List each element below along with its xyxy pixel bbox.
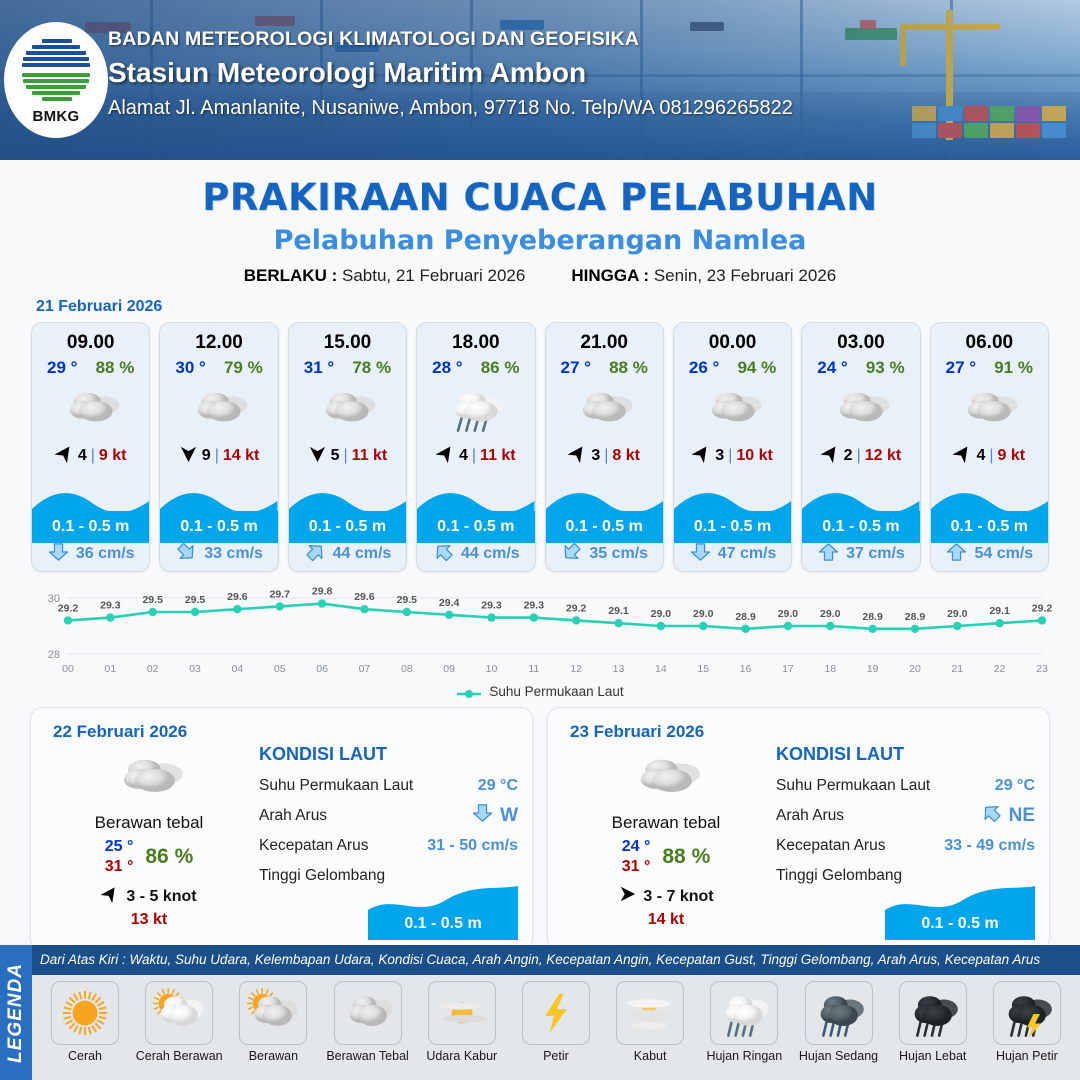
hourly-current: 54 cm/s [931,541,1048,567]
wind-direction-arrow-icon [821,444,840,468]
svg-text:13: 13 [613,663,625,675]
berawan-tebal-icon [546,381,663,437]
hourly-card: 12.00 30 ° 79 % 9 | 14 kt [159,322,278,572]
daily-date: 23 Februari 2026 [570,722,704,742]
wind-direction-arrow-icon [692,444,711,468]
separator: | [215,447,219,465]
hourly-humidity: 91 % [994,358,1033,378]
hourly-temperature: 31 ° [304,358,334,378]
svg-text:00: 00 [62,663,74,675]
hourly-current: 47 cm/s [674,541,791,567]
hingga-label: HINGGA : [571,266,649,285]
validity-row: BERLAKU : Sabtu, 21 Februari 2026 HINGGA… [0,266,1080,286]
bmkg-logo-text: BMKG [32,108,79,125]
hourly-temperature: 29 ° [47,358,77,378]
daily-sea-title: KONDISI LAUT [259,744,518,765]
separator: | [857,447,861,465]
hourly-gust: 9 kt [99,447,127,465]
daily-wind: 3 - 7 knot [566,885,766,908]
hourly-wave-band: 0.1 - 0.5 m [931,511,1048,543]
hourly-wave-band: 0.1 - 0.5 m [674,511,791,543]
hourly-current: 33 cm/s [160,541,277,567]
hourly-wind: 3 | 10 kt [674,443,791,469]
haze-icon [428,981,496,1045]
wind-direction-arrow-icon [101,885,119,908]
hourly-card: 00.00 26 ° 94 % 3 | 10 kt [673,322,792,572]
hourly-wind-speed: 3 [715,447,724,465]
daily-sea-conditions: KONDISI LAUT Suhu Permukaan Laut 29 °C A… [259,744,518,891]
daily-temp-max: 31 ° [105,857,134,877]
daily-wave-badge: 0.1 - 0.5 m [368,884,518,940]
daily-temps: 25 ° 31 ° 86 % [49,837,249,877]
hourly-wind-speed: 3 [591,447,600,465]
current-direction-arrow-icon [817,543,840,566]
hourly-temp-hum: 31 ° 78 % [289,354,406,378]
hourly-wind-speed: 4 [78,447,87,465]
hourly-wind: 3 | 8 kt [546,443,663,469]
hourly-wave-band: 0.1 - 0.5 m [289,511,406,543]
daily-temp-max: 31 ° [622,857,651,877]
hourly-wave-height: 0.1 - 0.5 m [180,518,257,536]
svg-text:0.1 - 0.5 m: 0.1 - 0.5 m [404,915,481,932]
wind-direction-arrow-icon [436,444,455,468]
svg-text:28.9: 28.9 [735,611,756,623]
svg-text:29.3: 29.3 [524,600,545,612]
hourly-card: 09.00 29 ° 88 % 4 | 9 kt [31,322,150,572]
legend-item-label: Berawan [249,1049,298,1063]
hourly-wave-area: 0.1 - 0.5 m 44 cm/s [289,485,406,571]
legend-side-tab: LEGENDA [0,945,32,1080]
bmkg-emblem-icon [20,35,92,107]
daily-sea-row: Kecepatan Arus 31 - 50 cm/s [259,831,518,861]
hourly-wind: 9 | 14 kt [160,443,277,469]
hourly-temperature: 26 ° [689,358,719,378]
svg-text:07: 07 [359,663,371,675]
hourly-current-speed: 44 cm/s [333,545,392,563]
daily-panel: 23 Februari 2026 Berawan tebal 24 ° 31 °… [547,707,1050,951]
svg-text:14: 14 [655,663,667,675]
svg-text:03: 03 [189,663,201,675]
svg-text:23: 23 [1036,663,1048,675]
hourly-time: 12.00 [160,323,277,354]
daily-sea-key: Tinggi Gelombang [776,867,902,885]
wind-direction-arrow-icon [308,444,327,468]
hourly-wind-speed: 4 [459,447,468,465]
berawan-tebal-icon [674,381,791,437]
separator: | [989,447,993,465]
svg-text:28.9: 28.9 [862,611,883,623]
svg-text:02: 02 [147,663,159,675]
svg-text:29.1: 29.1 [989,605,1010,617]
daily-temp-range: 25 ° 31 ° [105,837,134,877]
current-direction-arrow-icon [980,804,1003,828]
svg-text:29.6: 29.6 [227,591,248,603]
hujan-ringan-icon [417,381,534,437]
hourly-time: 15.00 [289,323,406,354]
daily-current-direction: NE [980,804,1035,828]
daily-sea-value: 29 °C [478,777,518,795]
daily-condition: Berawan tebal [49,813,249,833]
current-direction-arrow-icon [689,543,712,566]
hourly-temp-hum: 30 ° 79 % [160,354,277,378]
station-name: Stasiun Meteorologi Maritim Ambon [108,57,793,89]
berawan-tebal-icon [49,752,249,809]
svg-text:08: 08 [401,663,413,675]
berawan-tebal-icon [32,381,149,437]
legend-item: Hujan Sedang [794,981,884,1063]
hourly-wind-speed: 9 [202,447,211,465]
hourly-card: 18.00 28 ° 86 % 4 | 11 kt [416,322,535,572]
current-direction-arrow-icon [175,543,198,566]
svg-text:0.1 - 0.5 m: 0.1 - 0.5 m [921,915,998,932]
hourly-temp-hum: 24 ° 93 % [802,354,919,378]
legend-item: Kabut [605,981,695,1063]
fog-icon [616,981,684,1045]
svg-text:29.0: 29.0 [778,608,799,620]
separator: | [91,447,95,465]
daily-summary: Berawan tebal 24 ° 31 ° 88 % 3 - 7 knot … [566,752,766,929]
legend-item-label: Hujan Petir [996,1049,1058,1063]
header-text-block: BADAN METEOROLOGI KLIMATOLOGI DAN GEOFIS… [108,28,793,120]
svg-text:29.0: 29.0 [947,608,968,620]
current-direction-arrow-icon [945,543,968,566]
svg-text:29.0: 29.0 [820,608,841,620]
separator: | [604,447,608,465]
hourly-card: 21.00 27 ° 88 % 3 | 8 kt [545,322,664,572]
wind-direction-arrow-icon [618,885,636,908]
svg-text:28.9: 28.9 [905,611,926,623]
svg-text:20: 20 [909,663,921,675]
svg-text:19: 19 [867,663,879,675]
svg-text:06: 06 [316,663,328,675]
hourly-current-speed: 47 cm/s [718,545,777,563]
daily-sea-value: 33 - 49 cm/s [944,837,1035,855]
hourly-wave-height: 0.1 - 0.5 m [309,518,386,536]
hourly-wave-height: 0.1 - 0.5 m [694,518,771,536]
hourly-time: 09.00 [32,323,149,354]
legend-section: LEGENDA Dari Atas Kiri : Waktu, Suhu Uda… [0,945,1080,1080]
svg-text:29.0: 29.0 [693,608,714,620]
daily-sea-row: Suhu Permukaan Laut 29 °C [259,771,518,801]
hourly-card: 15.00 31 ° 78 % 5 | 11 kt [288,322,407,572]
svg-text:29.7: 29.7 [270,588,291,600]
daily-humidity: 86 % [145,845,193,869]
svg-text:04: 04 [232,663,244,675]
hourly-current: 37 cm/s [802,541,919,567]
hourly-temperature: 30 ° [175,358,205,378]
hourly-temperature: 27 ° [561,358,591,378]
page-title: PRAKIRAAN CUACA PELABUHAN [0,176,1080,219]
daily-current-direction: W [471,804,518,828]
daily-current-direction-label: W [500,805,518,827]
hourly-card: 03.00 24 ° 93 % 2 | 12 kt [801,322,920,572]
hourly-gust: 11 kt [352,447,388,465]
current-direction-arrow-icon [560,543,583,566]
hourly-gust: 9 kt [998,447,1026,465]
svg-text:29.5: 29.5 [142,594,163,606]
berlaku-group: BERLAKU : Sabtu, 21 Februari 2026 [244,266,526,286]
legend-item: Hujan Petir [982,981,1072,1063]
hourly-temperature: 28 ° [432,358,462,378]
heavy-rain-icon [899,981,967,1045]
svg-text:29.2: 29.2 [1032,602,1053,614]
hourly-current-speed: 44 cm/s [461,545,520,563]
bmkg-logo: BMKG [4,22,108,138]
hourly-wave-area: 0.1 - 0.5 m 47 cm/s [674,485,791,571]
hingga-value: Senin, 23 Februari 2026 [654,266,836,285]
legend-item-label: Cerah [68,1049,102,1063]
daily-summary: Berawan tebal 25 ° 31 ° 86 % 3 - 5 knot … [49,752,249,929]
berawan-tebal-icon [289,381,406,437]
station-address: Alamat Jl. Amanlanite, Nusaniwe, Ambon, … [108,97,793,120]
hourly-humidity: 79 % [224,358,263,378]
svg-text:16: 16 [740,663,752,675]
svg-text:18: 18 [824,663,836,675]
hourly-temp-hum: 27 ° 88 % [546,354,663,378]
daily-temp-min: 24 ° [622,837,651,857]
legend-item-label: Cerah Berawan [136,1049,223,1063]
hourly-wave-height: 0.1 - 0.5 m [566,518,643,536]
sst-chart: 283029.20029.30129.50229.50329.60429.705… [0,580,1080,688]
svg-text:29.2: 29.2 [58,602,79,614]
svg-text:29.6: 29.6 [354,591,375,603]
daily-sea-row: Suhu Permukaan Laut 29 °C [776,771,1035,801]
hourly-wave-height: 0.1 - 0.5 m [822,518,899,536]
legend-item-label: Hujan Lebat [899,1049,966,1063]
hourly-current-speed: 33 cm/s [204,545,263,563]
hourly-temp-hum: 28 ° 86 % [417,354,534,378]
legend-item: Berawan [228,981,318,1063]
daily-current-direction-label: NE [1009,805,1035,827]
svg-text:28: 28 [48,649,60,661]
daily-humidity: 88 % [662,845,710,869]
legend-item: Hujan Lebat [888,981,978,1063]
cloud-sun-icon [239,981,307,1045]
hourly-wave-band: 0.1 - 0.5 m [417,511,534,543]
legend-side-label: LEGENDA [5,963,27,1063]
berlaku-value: Sabtu, 21 Februari 2026 [342,266,525,285]
hourly-time: 21.00 [546,323,663,354]
hourly-wind-speed: 2 [844,447,853,465]
daily-sea-row: Arah Arus NE [776,801,1035,831]
hourly-gust: 14 kt [223,447,259,465]
legend-item: Hujan Ringan [699,981,789,1063]
daily-sea-title: KONDISI LAUT [776,744,1035,765]
hourly-time: 18.00 [417,323,534,354]
daily-sea-value: 31 - 50 cm/s [427,837,518,855]
hourly-current-speed: 37 cm/s [846,545,905,563]
hourly-humidity: 78 % [352,358,391,378]
svg-text:29.3: 29.3 [100,600,121,612]
hourly-wave-area: 0.1 - 0.5 m 37 cm/s [802,485,919,571]
daily-sea-key: Kecepatan Arus [259,837,368,855]
hourly-current: 35 cm/s [546,541,663,567]
hourly-humidity: 88 % [609,358,648,378]
legend-item-row: Cerah Cerah Berawan Berawan [32,975,1080,1080]
separator: | [344,447,348,465]
daily-temp-min: 25 ° [105,837,134,857]
daily-sea-key: Suhu Permukaan Laut [259,777,413,795]
hourly-wave-area: 0.1 - 0.5 m 36 cm/s [32,485,149,571]
hourly-time: 06.00 [931,323,1048,354]
forecast-day-label: 21 Februari 2026 [36,298,1080,316]
hourly-forecast-row: 09.00 29 ° 88 % 4 | 9 kt [0,322,1080,572]
daily-sea-value: 29 °C [995,777,1035,795]
svg-text:29.3: 29.3 [481,600,502,612]
hourly-wind: 2 | 12 kt [802,443,919,469]
legend-item-label: Hujan Sedang [799,1049,878,1063]
legend-item: Petir [511,981,601,1063]
hingga-group: HINGGA : Senin, 23 Februari 2026 [571,266,836,286]
legend-item: Berawan Tebal [323,981,413,1063]
hourly-wave-band: 0.1 - 0.5 m [160,511,277,543]
svg-text:29.4: 29.4 [439,597,460,609]
hourly-wind: 4 | 9 kt [931,443,1048,469]
svg-text:12: 12 [570,663,582,675]
svg-text:22: 22 [994,663,1006,675]
daily-wind: 3 - 5 knot [49,885,249,908]
legend-item-label: Udara Kabur [426,1049,497,1063]
wind-direction-arrow-icon [179,444,198,468]
legend-item-label: Petir [543,1049,569,1063]
hourly-time: 03.00 [802,323,919,354]
berlaku-label: BERLAKU : [244,266,338,285]
hourly-gust: 11 kt [480,447,516,465]
separator: | [728,447,732,465]
svg-text:29.8: 29.8 [312,586,333,598]
svg-text:05: 05 [274,663,286,675]
separator: | [472,447,476,465]
hourly-wave-area: 0.1 - 0.5 m 35 cm/s [546,485,663,571]
hourly-wave-area: 0.1 - 0.5 m 33 cm/s [160,485,277,571]
current-direction-arrow-icon [304,543,327,566]
svg-text:10: 10 [486,663,498,675]
berawan-tebal-icon [566,752,766,809]
legend-item: Udara Kabur [417,981,507,1063]
daily-wind-speed: 3 - 5 knot [126,888,196,906]
hourly-wind: 5 | 11 kt [289,443,406,469]
wave-shape-icon: 0.1 - 0.5 m [885,884,1035,940]
daily-gust: 13 kt [49,911,249,929]
daily-forecast-row: 22 Februari 2026 Berawan tebal 25 ° 31 °… [0,699,1080,951]
current-direction-arrow-icon [47,543,70,566]
hourly-current: 36 cm/s [32,541,149,567]
svg-text:29.5: 29.5 [185,594,206,606]
svg-text:11: 11 [528,663,539,675]
daily-sea-key: Arah Arus [259,807,327,825]
current-direction-arrow-icon [432,543,455,566]
daily-wave-badge: 0.1 - 0.5 m [885,884,1035,940]
daily-temps: 24 ° 31 ° 88 % [566,837,766,877]
legend-item-label: Kabut [634,1049,667,1063]
hourly-humidity: 94 % [737,358,776,378]
hourly-current-speed: 54 cm/s [974,545,1033,563]
daily-temp-range: 24 ° 31 ° [622,837,651,877]
svg-text:29.2: 29.2 [566,602,587,614]
wave-shape-icon: 0.1 - 0.5 m [368,884,518,940]
hourly-current: 44 cm/s [417,541,534,567]
hourly-wave-band: 0.1 - 0.5 m [32,511,149,543]
hourly-wave-area: 0.1 - 0.5 m 44 cm/s [417,485,534,571]
hourly-temp-hum: 27 ° 91 % [931,354,1048,378]
hourly-wave-area: 0.1 - 0.5 m 54 cm/s [931,485,1048,571]
svg-text:29.0: 29.0 [651,608,672,620]
daily-date: 22 Februari 2026 [53,722,187,742]
wind-direction-arrow-icon [55,444,74,468]
svg-text:21: 21 [951,663,963,675]
hourly-card: 06.00 27 ° 91 % 4 | 9 kt [930,322,1049,572]
hourly-temperature: 24 ° [817,358,847,378]
hourly-temp-hum: 29 ° 88 % [32,354,149,378]
hourly-wave-height: 0.1 - 0.5 m [437,518,514,536]
hourly-wave-height: 0.1 - 0.5 m [951,518,1028,536]
daily-sea-key: Kecepatan Arus [776,837,885,855]
svg-text:29.5: 29.5 [397,594,418,606]
lightning-icon [522,981,590,1045]
svg-text:15: 15 [697,663,709,675]
daily-sea-row: Arah Arus W [259,801,518,831]
berawan-tebal-icon [931,381,1048,437]
daily-wind-speed: 3 - 7 knot [643,888,713,906]
daily-sea-key: Suhu Permukaan Laut [776,777,930,795]
current-direction-arrow-icon [471,804,494,828]
heavy-cloud-icon [334,981,402,1045]
svg-text:29.1: 29.1 [608,605,629,617]
berawan-tebal-icon [160,381,277,437]
legend-item: Cerah [40,981,130,1063]
legend-note: Dari Atas Kiri : Waktu, Suhu Udara, Kele… [40,952,1040,967]
daily-sea-row: Kecepatan Arus 33 - 49 cm/s [776,831,1035,861]
hourly-gust: 10 kt [736,447,772,465]
hourly-time: 00.00 [674,323,791,354]
hourly-gust: 8 kt [612,447,640,465]
svg-text:09: 09 [443,663,455,675]
hourly-gust: 12 kt [865,447,901,465]
hourly-temp-hum: 26 ° 94 % [674,354,791,378]
hourly-wind: 4 | 9 kt [32,443,149,469]
hourly-humidity: 93 % [866,358,905,378]
hourly-wind-speed: 4 [976,447,985,465]
daily-condition: Berawan tebal [566,813,766,833]
legend-item-label: Hujan Ringan [706,1049,782,1063]
hourly-wave-height: 0.1 - 0.5 m [52,518,129,536]
chart-legend-marker-icon [456,687,482,697]
thunderstorm-icon [993,981,1061,1045]
daily-gust: 14 kt [566,911,766,929]
berawan-tebal-icon [802,381,919,437]
sst-chart-canvas: 283029.20029.30129.50229.50329.60429.705… [22,580,1058,680]
daily-sea-key: Tinggi Gelombang [259,867,385,885]
wind-direction-arrow-icon [568,444,587,468]
sun-cloud-icon [145,981,213,1045]
page-subtitle: Pelabuhan Penyeberangan Namlea [0,225,1080,256]
hourly-wind-speed: 5 [331,447,340,465]
moderate-rain-icon [805,981,873,1045]
daily-sea-key: Arah Arus [776,807,844,825]
hourly-current-speed: 35 cm/s [589,545,648,563]
page-header: BMKG BADAN METEOROLOGI KLIMATOLOGI DAN G… [0,0,1080,160]
svg-text:17: 17 [782,663,794,675]
agency-name: BADAN METEOROLOGI KLIMATOLOGI DAN GEOFIS… [108,28,793,51]
hourly-current-speed: 36 cm/s [76,545,135,563]
hourly-wind: 4 | 11 kt [417,443,534,469]
daily-panel: 22 Februari 2026 Berawan tebal 25 ° 31 °… [30,707,533,951]
hourly-current: 44 cm/s [289,541,406,567]
legend-item: Cerah Berawan [134,981,224,1063]
wind-direction-arrow-icon [953,444,972,468]
hourly-humidity: 86 % [481,358,520,378]
sun-icon [51,981,119,1045]
